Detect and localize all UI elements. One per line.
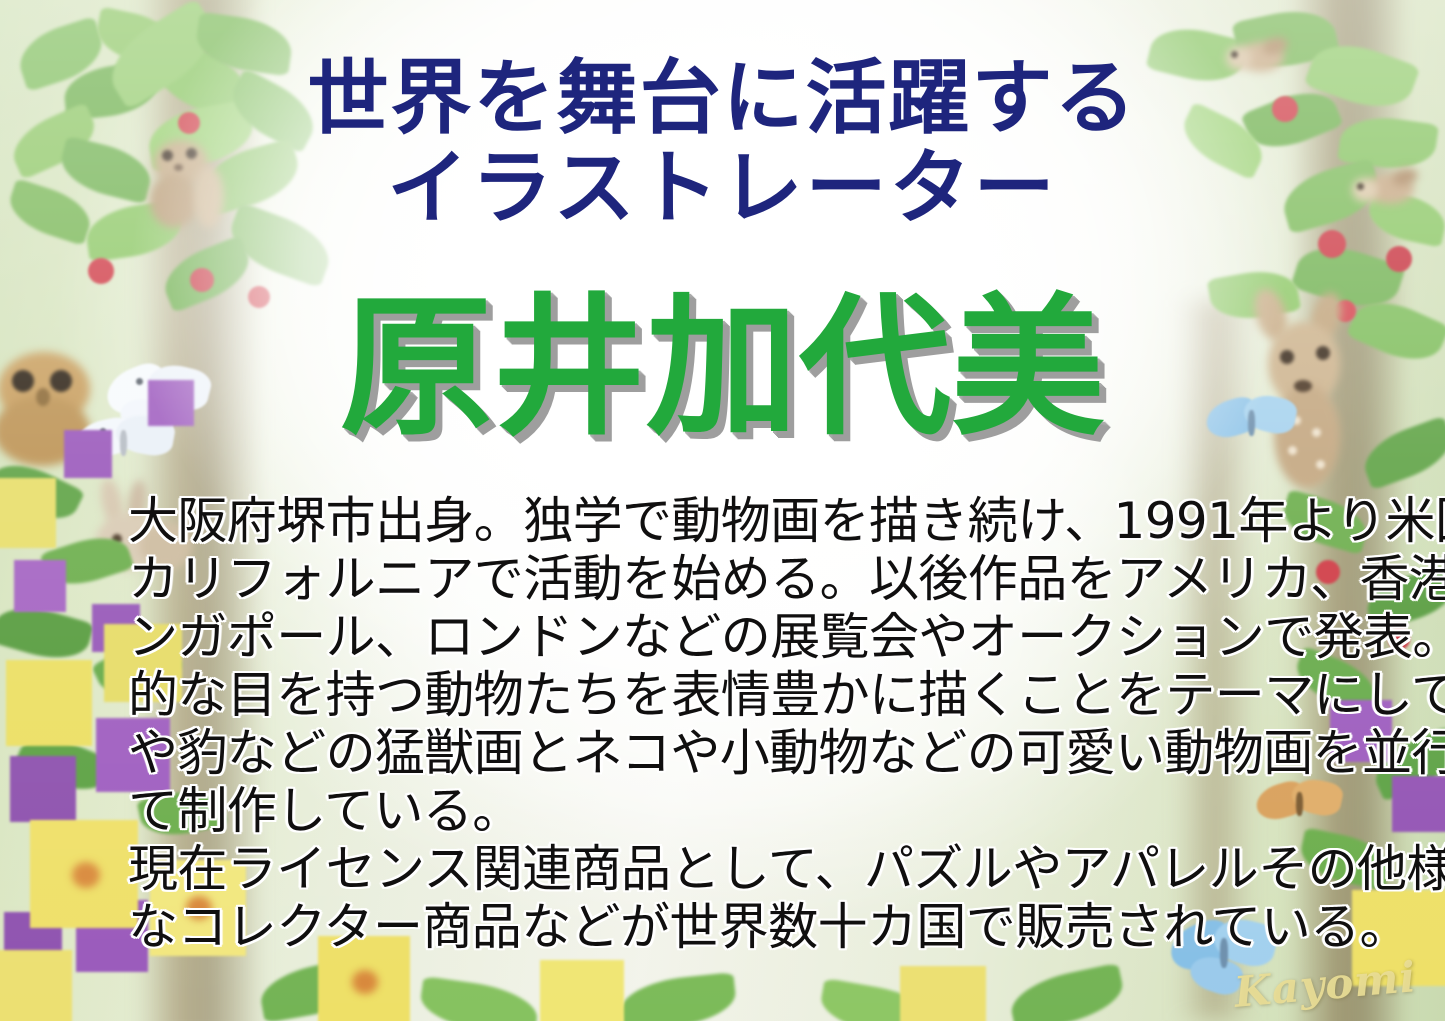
bio-line: や豹などの猛獣画とネコや小動物などの可愛い動物画を並行し (128, 724, 1336, 782)
artist-bio: 大阪府堺市出身。独学で動物画を描き続け、1991年より米国 カリフォルニアで活動… (128, 492, 1336, 956)
headline-line-1: 世界を舞台に活躍する (307, 51, 1137, 146)
bio-line: 的な目を持つ動物たちを表情豊かに描くことをテーマにして、虎 (128, 666, 1336, 724)
bio-line: カリフォルニアで活動を始める。以後作品をアメリカ、香港、シ (128, 550, 1336, 608)
bio-line: なコレクター商品などが世界数十カ国で販売されている。 (128, 898, 1336, 956)
artist-name: 原井加代美 (0, 292, 1445, 444)
bio-paragraph-2: 現在ライセンス関連商品として、パズルやアパレルその他様々 なコレクター商品などが… (128, 840, 1336, 956)
artist-profile-banner: 世界を舞台に活躍する イラストレーター 原井加代美 大阪府堺市出身。独学で動物画… (0, 0, 1445, 1021)
bio-paragraph-1: 大阪府堺市出身。独学で動物画を描き続け、1991年より米国 カリフォルニアで活動… (128, 492, 1336, 840)
bio-line: て制作している。 (128, 782, 1336, 840)
artist-signature: Kayomi (1233, 952, 1419, 1017)
bio-line: ンガポール、ロンドンなどの展覧会やオークションで発表。印象 (128, 608, 1336, 666)
bio-line: 大阪府堺市出身。独学で動物画を描き続け、1991年より米国 (128, 492, 1336, 550)
headline: 世界を舞台に活躍する イラストレーター (0, 54, 1445, 234)
bio-line: 現在ライセンス関連商品として、パズルやアパレルその他様々 (128, 840, 1336, 898)
banner-content: 世界を舞台に活躍する イラストレーター 原井加代美 大阪府堺市出身。独学で動物画… (0, 0, 1445, 1021)
headline-line-2: イラストレーター (0, 144, 1445, 234)
